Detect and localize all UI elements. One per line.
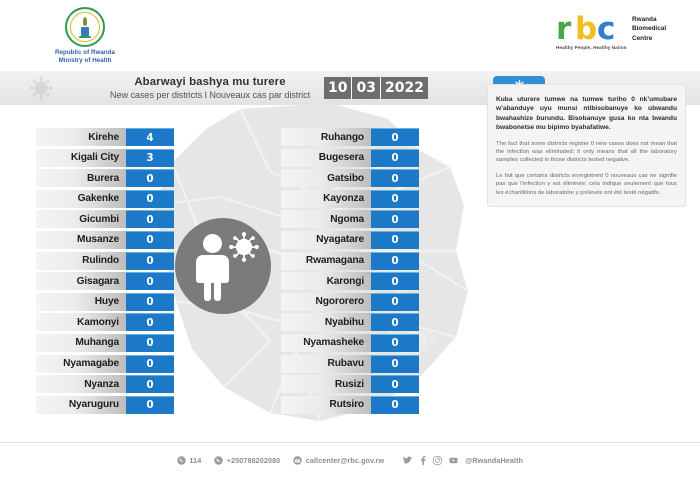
email-icon	[293, 456, 302, 465]
phone-number: +250788202080	[227, 456, 280, 465]
ministry-of-health-logo: Republic of Rwanda Ministry of Health	[40, 7, 130, 65]
rbc-letter-b: b	[575, 14, 597, 44]
district-case-count: 0	[126, 252, 174, 270]
district-row: Muhanga0	[36, 334, 174, 352]
district-name: Burera	[36, 169, 126, 187]
district-case-count: 0	[371, 231, 419, 249]
email-item[interactable]: callcenter@rbc.gov.rw	[293, 456, 384, 465]
district-name: Gisagara	[36, 272, 126, 290]
district-case-count: 0	[371, 293, 419, 311]
date-month: 03	[352, 77, 380, 99]
infographic-page: Republic of Rwanda Ministry of Health r …	[0, 0, 700, 478]
district-row: Kayonza0	[281, 190, 419, 208]
district-case-count: 3	[126, 149, 174, 167]
district-name: Kigali City	[36, 149, 126, 167]
district-name: Kayonza	[281, 190, 371, 208]
district-row: Nyanza0	[36, 375, 174, 393]
district-name: Nyabihu	[281, 313, 371, 331]
district-name: Nyagatare	[281, 231, 371, 249]
hotline-number: 114	[189, 456, 201, 465]
district-case-count: 0	[371, 252, 419, 270]
rbc-letter-c: c	[597, 14, 615, 44]
district-row: Nyagatare0	[281, 231, 419, 249]
disclaimer-box: Kuba uturere tumwe na tumwe turiho 0 nk’…	[487, 84, 686, 207]
district-row: Nyabihu0	[281, 313, 419, 331]
district-case-count: 0	[126, 272, 174, 290]
district-row: Nyamagabe0	[36, 355, 174, 373]
district-name: Gatsibo	[281, 169, 371, 187]
district-case-count: 0	[371, 313, 419, 331]
disclaimer-french: Le fait que certains districts enregistr…	[496, 172, 677, 197]
district-row: Kigali City3	[36, 149, 174, 167]
district-row: Karongi0	[281, 272, 419, 290]
district-case-count: 4	[126, 128, 174, 146]
district-row: Rulindo0	[36, 252, 174, 270]
rbc-full-name: Rwanda Biomedical Centre	[632, 15, 666, 43]
district-row: Rwamagana0	[281, 252, 419, 270]
district-row: Gakenke0	[36, 190, 174, 208]
district-name: Rulindo	[36, 252, 126, 270]
district-name: Bugesera	[281, 149, 371, 167]
district-row: Nyamasheke0	[281, 334, 419, 352]
district-row: Ruhango0	[281, 128, 419, 146]
social-handle[interactable]: @RwandaHealth	[465, 456, 523, 465]
district-name: Karongi	[281, 272, 371, 290]
rbc-logo: r b c Healthy People, Healthy Nation Rwa…	[556, 12, 690, 60]
person-icon	[203, 234, 222, 253]
district-case-count: 0	[371, 334, 419, 352]
email-address: callcenter@rbc.gov.rw	[306, 456, 384, 465]
district-row: Rubavu0	[281, 355, 419, 373]
district-name: Gakenke	[36, 190, 126, 208]
phone-item: +250788202080	[214, 456, 280, 465]
district-case-count: 0	[371, 355, 419, 373]
rbc-letter-r: r	[556, 14, 571, 44]
district-case-count: 0	[371, 396, 419, 414]
district-case-count: 0	[126, 293, 174, 311]
district-case-count: 0	[126, 169, 174, 187]
phone-icon	[177, 456, 186, 465]
district-name: Musanze	[36, 231, 126, 249]
district-name: Ruhango	[281, 128, 371, 146]
top-logo-bar: Republic of Rwanda Ministry of Health r …	[0, 0, 700, 68]
district-case-count: 0	[126, 334, 174, 352]
district-name: Ngororero	[281, 293, 371, 311]
social-links: @RwandaHealth	[403, 456, 523, 465]
district-row: Gatsibo0	[281, 169, 419, 187]
district-row: Musanze0	[36, 231, 174, 249]
disclaimer-kinyarwanda: Kuba uturere tumwe na tumwe turiho 0 nk’…	[496, 95, 677, 133]
district-row: Rusizi0	[281, 375, 419, 393]
district-case-count: 0	[126, 190, 174, 208]
district-name: Muhanga	[36, 334, 126, 352]
district-row: Ngororero0	[281, 293, 419, 311]
report-date: 10 03 2022	[324, 77, 428, 99]
hotline-item: 114	[177, 456, 201, 465]
district-name: Nyamagabe	[36, 355, 126, 373]
rwanda-coat-of-arms-icon	[65, 7, 105, 47]
district-row: Burera0	[36, 169, 174, 187]
district-case-count: 0	[371, 375, 419, 393]
rbc-wordmark-icon: r b c Healthy People, Healthy Nation	[556, 14, 628, 44]
district-case-count: 0	[371, 210, 419, 228]
facebook-icon[interactable]	[420, 456, 426, 465]
virus-icon	[227, 230, 261, 264]
rbc-name-line-2: Biomedical	[632, 24, 666, 33]
footer-divider	[0, 442, 700, 443]
ministry-line-2: Ministry of Health	[40, 57, 130, 65]
district-row: Gicumbi0	[36, 210, 174, 228]
district-case-count: 0	[371, 149, 419, 167]
patient-virus-illustration	[175, 218, 271, 314]
date-year: 2022	[381, 77, 428, 99]
district-case-count: 0	[371, 190, 419, 208]
district-row: Huye0	[36, 293, 174, 311]
district-name: Rubavu	[281, 355, 371, 373]
district-name: Huye	[36, 293, 126, 311]
district-name: Kamonyi	[36, 313, 126, 331]
disclaimer-english: The fact that some districts register 0 …	[496, 140, 677, 165]
footer-contact-bar: 114 +250788202080 callcenter@rbc.gov.rw	[0, 448, 700, 472]
district-row: Ngoma0	[281, 210, 419, 228]
youtube-icon[interactable]	[449, 456, 458, 465]
district-row: Rutsiro0	[281, 396, 419, 414]
district-name: Nyamasheke	[281, 334, 371, 352]
phone-icon	[214, 456, 223, 465]
instagram-icon[interactable]	[433, 456, 442, 465]
rbc-tagline: Healthy People, Healthy Nation	[556, 45, 627, 50]
district-case-count: 0	[126, 231, 174, 249]
district-list-right: Ruhango0Bugesera0Gatsibo0Kayonza0Ngoma0N…	[281, 128, 419, 416]
rbc-name-line-1: Rwanda	[632, 15, 666, 24]
district-name: Nyaruguru	[36, 396, 126, 414]
district-name: Rusizi	[281, 375, 371, 393]
district-row: Kirehe4	[36, 128, 174, 146]
district-case-count: 0	[126, 355, 174, 373]
twitter-icon[interactable]	[403, 456, 413, 465]
rbc-name-line-3: Centre	[632, 34, 666, 43]
district-list-left: Kirehe4Kigali City3Burera0Gakenke0Gicumb…	[36, 128, 174, 416]
district-name: Kirehe	[36, 128, 126, 146]
district-name: Rutsiro	[281, 396, 371, 414]
district-row: Gisagara0	[36, 272, 174, 290]
district-row: Bugesera0	[281, 149, 419, 167]
district-row: Kamonyi0	[36, 313, 174, 331]
district-case-count: 0	[371, 169, 419, 187]
district-case-count: 0	[371, 272, 419, 290]
district-row: Nyaruguru0	[36, 396, 174, 414]
district-name: Rwamagana	[281, 252, 371, 270]
district-case-count: 0	[371, 128, 419, 146]
ministry-line-1: Republic of Rwanda	[40, 49, 130, 57]
date-day: 10	[324, 77, 352, 99]
district-name: Gicumbi	[36, 210, 126, 228]
district-case-count: 0	[126, 210, 174, 228]
district-case-count: 0	[126, 396, 174, 414]
district-case-count: 0	[126, 313, 174, 331]
district-name: Nyanza	[36, 375, 126, 393]
district-case-count: 0	[126, 375, 174, 393]
district-name: Ngoma	[281, 210, 371, 228]
